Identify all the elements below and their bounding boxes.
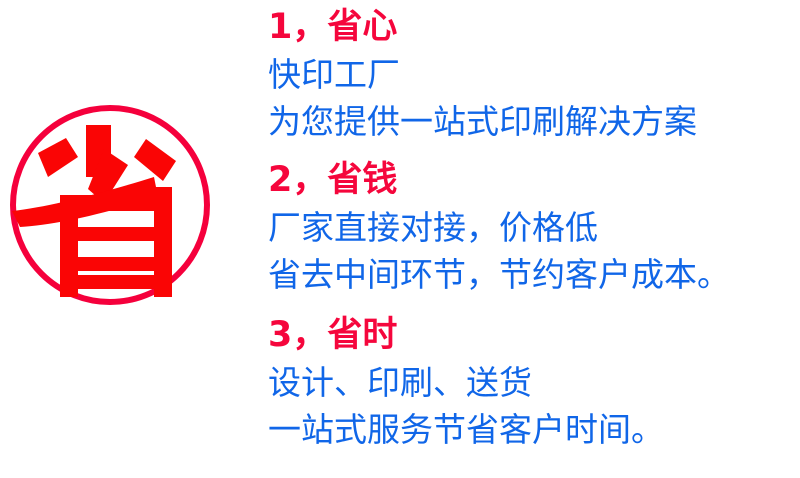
benefit-heading-2: 2，省钱 <box>268 157 788 204</box>
benefits-list: 1，省心 快印工厂 为您提供一站式印刷解决方案 2，省钱 厂家直接对接，价格低 … <box>268 0 788 478</box>
benefit-item-3: 3，省时 设计、印刷、送货 一站式服务节省客户时间。 <box>268 312 788 453</box>
promo-poster: 1，省心 快印工厂 为您提供一站式印刷解决方案 2，省钱 厂家直接对接，价格低 … <box>0 0 800 478</box>
benefit-line-3-2: 一站式服务节省客户时间。 <box>268 406 788 453</box>
benefit-line-2-2: 省去中间环节，节约客户成本。 <box>268 251 788 298</box>
benefit-item-1: 1，省心 快印工厂 为您提供一站式印刷解决方案 <box>268 4 788 145</box>
brand-seal-logo <box>8 103 212 307</box>
benefit-line-1-2: 为您提供一站式印刷解决方案 <box>268 98 788 145</box>
benefit-heading-1: 1，省心 <box>268 4 788 51</box>
benefit-item-2: 2，省钱 厂家直接对接，价格低 省去中间环节，节约客户成本。 <box>268 157 788 298</box>
benefit-line-3-1: 设计、印刷、送货 <box>268 359 788 406</box>
benefit-heading-3: 3，省时 <box>268 312 788 359</box>
benefit-line-1-1: 快印工厂 <box>268 51 788 98</box>
benefit-line-2-1: 厂家直接对接，价格低 <box>268 204 788 251</box>
